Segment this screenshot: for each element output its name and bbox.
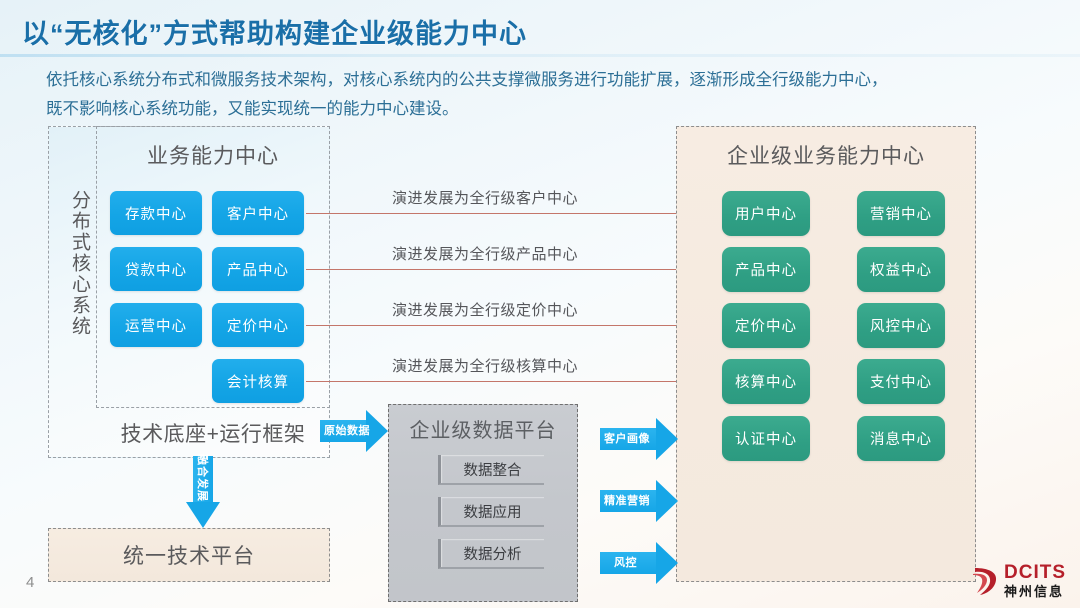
unified-technology-platform[interactable]: 统一技术平台	[48, 528, 330, 582]
evolution-label-3: 演进发展为全行级定价中心	[392, 299, 578, 320]
dcits-logo: DCITS 神州信息	[972, 563, 1066, 598]
green-box-message-center[interactable]: 消息中心	[857, 416, 945, 461]
blue-box-accounting[interactable]: 会计核算	[212, 359, 304, 403]
business-capability-center-title: 业务能力中心	[96, 140, 330, 170]
green-box-payment-center[interactable]: 支付中心	[857, 359, 945, 404]
page-subtitle: 依托核心系统分布式和微服务技术架构，对核心系统内的公共支撑微服务进行功能扩展，逐…	[46, 66, 986, 124]
evolution-line-2	[306, 269, 724, 270]
flow-arrow-head	[656, 542, 678, 584]
blue-box-deposit-center[interactable]: 存款中心	[110, 191, 202, 235]
green-box-product-center[interactable]: 产品中心	[722, 247, 810, 292]
green-box-user-center[interactable]: 用户中心	[722, 191, 810, 236]
flow-arrow-label-risk-control: 风控	[614, 554, 637, 570]
subtitle-line-2: 既不影响核心系统功能，又能实现统一的能力中心建设。	[46, 95, 986, 124]
flow-arrow-raw-data: 原始数据	[320, 410, 388, 452]
flow-arrow-label-precision-marketing: 精准营销	[604, 492, 650, 508]
merge-arrow-label: 融合发展	[195, 447, 211, 509]
blue-box-product-center[interactable]: 产品中心	[212, 247, 304, 291]
evolution-line-4	[306, 381, 724, 382]
flow-arrow-head	[656, 418, 678, 460]
green-box-auth-center[interactable]: 认证中心	[722, 416, 810, 461]
flow-arrow-risk-control: 风控	[600, 542, 680, 584]
merge-development-arrow: 融合发展	[186, 456, 220, 530]
flow-arrow-head	[656, 480, 678, 522]
evolution-line-3	[306, 325, 724, 326]
data-platform-item-integration[interactable]: 数据整合	[438, 455, 544, 485]
evolution-label-1: 演进发展为全行级客户中心	[392, 187, 578, 208]
slide-root: 以“无核化”方式帮助构建企业级能力中心 依托核心系统分布式和微服务技术架构，对核…	[0, 0, 1080, 608]
enterprise-capability-center-title: 企业级业务能力中心	[676, 140, 976, 170]
green-box-pricing-center[interactable]: 定价中心	[722, 303, 810, 348]
green-box-rights-center[interactable]: 权益中心	[857, 247, 945, 292]
green-box-risk-center[interactable]: 风控中心	[857, 303, 945, 348]
blue-box-operation-center[interactable]: 运营中心	[110, 303, 202, 347]
unified-technology-platform-label: 统一技术平台	[123, 540, 255, 570]
blue-box-customer-center[interactable]: 客户中心	[212, 191, 304, 235]
flow-arrow-label-raw-data: 原始数据	[324, 422, 370, 438]
dcits-mark-icon	[972, 566, 998, 596]
subtitle-line-1: 依托核心系统分布式和微服务技术架构，对核心系统内的公共支撑微服务进行功能扩展，逐…	[46, 66, 986, 95]
enterprise-data-platform-title: 企业级数据平台	[388, 414, 578, 443]
dcits-logo-text: DCITS 神州信息	[1004, 563, 1066, 598]
blue-box-pricing-center[interactable]: 定价中心	[212, 303, 304, 347]
tech-base-label: 技术底座+运行框架	[96, 418, 330, 448]
flow-arrow-precision-marketing: 精准营销	[600, 480, 680, 522]
data-platform-item-application[interactable]: 数据应用	[438, 497, 544, 527]
page-title: 以“无核化”方式帮助构建企业级能力中心	[22, 12, 527, 51]
evolution-line-1	[306, 213, 724, 214]
green-box-marketing-center[interactable]: 营销中心	[857, 191, 945, 236]
page-number: 4	[26, 574, 34, 591]
green-box-accounting-center[interactable]: 核算中心	[722, 359, 810, 404]
flow-arrow-label-customer-profile: 客户画像	[604, 430, 650, 446]
flow-arrow-customer-profile: 客户画像	[600, 418, 680, 460]
distributed-core-system-label: 分布式核心系统	[52, 190, 92, 337]
dcits-logo-en: DCITS	[1004, 563, 1066, 582]
dcits-logo-cn: 神州信息	[1004, 585, 1066, 598]
title-divider	[0, 54, 1080, 57]
blue-box-loan-center[interactable]: 贷款中心	[110, 247, 202, 291]
data-platform-item-analysis[interactable]: 数据分析	[438, 539, 544, 569]
evolution-label-2: 演进发展为全行级产品中心	[392, 243, 578, 264]
evolution-label-4: 演进发展为全行级核算中心	[392, 355, 578, 376]
